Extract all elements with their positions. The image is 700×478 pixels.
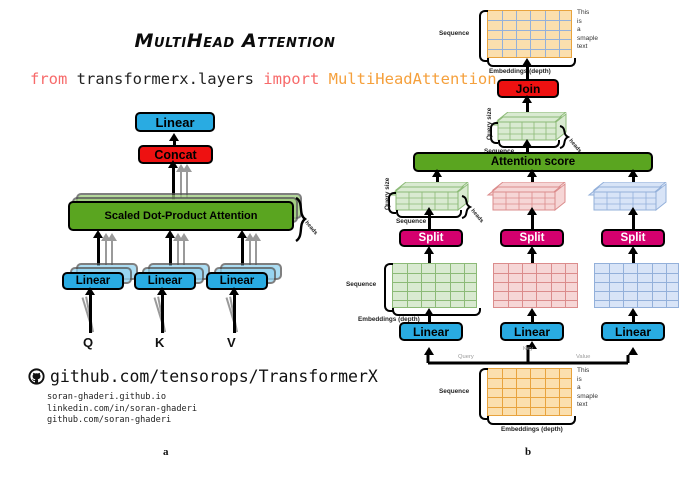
arrows-linear-k-to-attention bbox=[160, 233, 190, 265]
arrowhead-qproj-to-split bbox=[424, 246, 434, 254]
arrows-q-input bbox=[78, 290, 118, 340]
arrows-v-input bbox=[222, 290, 262, 340]
word-row-2: is bbox=[577, 18, 598, 27]
input-embeddings-label: Embeddings (depth) bbox=[501, 426, 563, 433]
input-word-row-1: This bbox=[577, 367, 598, 376]
arrowhead-lineark-to-proj bbox=[527, 308, 537, 316]
code-keyword-from: from bbox=[30, 70, 67, 88]
input-embeddings-brace bbox=[487, 416, 576, 425]
code-module: transformerx.layers bbox=[67, 70, 263, 88]
arrows-linear-q-to-attention bbox=[88, 233, 118, 265]
split-q-sequence-label: Sequence bbox=[396, 218, 426, 225]
arrowhead-splitk-to-matrix bbox=[527, 207, 537, 215]
branch-label-value: Value bbox=[576, 354, 590, 360]
arrowhead-vmatrix-to-score bbox=[628, 169, 638, 177]
word-row-1: This bbox=[577, 9, 598, 18]
personal-links: soran-ghaderi.github.io linkedin.com/in/… bbox=[47, 392, 197, 427]
split-matrix-query: Query size Sequence heads bbox=[388, 182, 478, 227]
diagram-a: Linear Concat Scaled Dot-Product Attenti… bbox=[0, 100, 370, 360]
output-sequence-label: Sequence bbox=[439, 30, 469, 37]
input-sequence-label: Sequence bbox=[439, 388, 469, 395]
input-matrix-grid bbox=[487, 368, 572, 416]
input-label-q: Q bbox=[83, 335, 93, 350]
input-matrix-words: This is a smaple text bbox=[577, 367, 598, 410]
input-label-v: V bbox=[227, 335, 236, 350]
arrow-splitk-to-matrix bbox=[531, 214, 534, 230]
projection-matrix-query-grid bbox=[392, 263, 477, 308]
arrow-splitq-to-matrix bbox=[428, 214, 431, 230]
arrowhead-concat-to-linear bbox=[169, 133, 179, 141]
link-website[interactable]: soran-ghaderi.github.io bbox=[47, 392, 197, 404]
split-matrix-value bbox=[586, 182, 676, 227]
scaled-dot-product-attention-box[interactable]: Scaled Dot-Product Attention bbox=[68, 201, 294, 231]
proj-embeddings-brace bbox=[392, 308, 481, 316]
link-linkedin[interactable]: linkedin.com/in/soran-ghaderi bbox=[47, 404, 197, 416]
proj-sequence-label: Sequence bbox=[346, 281, 376, 288]
output-embeddings-label: Embeddings (depth) bbox=[489, 68, 551, 75]
input-word-row-3: a bbox=[577, 384, 598, 393]
split-query-box[interactable]: Split bbox=[399, 229, 463, 247]
arrowhead-kproj-to-split bbox=[527, 246, 537, 254]
arrow-splitv-to-matrix bbox=[632, 214, 635, 230]
caption-b: b bbox=[525, 446, 531, 458]
input-word-row-4: smaple bbox=[577, 393, 598, 402]
caption-a: a bbox=[163, 446, 169, 458]
heads-brace-a bbox=[292, 196, 318, 244]
link-github[interactable]: github.com/soran-ghaderi bbox=[47, 415, 197, 427]
arrowhead-qmatrix-to-score bbox=[432, 169, 442, 177]
diagram-b: This is a smaple text Sequence Embedding… bbox=[380, 0, 700, 478]
split-key-box[interactable]: Split bbox=[500, 229, 564, 247]
split-matrix-key bbox=[485, 182, 575, 227]
arrowhead-head3-to-concat bbox=[182, 164, 192, 172]
joined-matrix: Query size Sequence heads bbox=[492, 112, 572, 157]
arrowhead-linearv-to-proj bbox=[628, 308, 638, 316]
arrows-k-input bbox=[150, 290, 190, 340]
input-sequence-brace bbox=[479, 368, 488, 420]
arrowhead-join-to-output bbox=[522, 58, 532, 66]
word-row-3: a bbox=[577, 26, 598, 35]
branch-label-query: Query bbox=[458, 354, 474, 360]
arrowhead-attentionscore-to-joined bbox=[522, 139, 532, 147]
arrowhead-joinedmatrix-to-join bbox=[522, 95, 532, 103]
split-matrix-value-stack bbox=[586, 182, 676, 222]
arrowhead-vproj-to-split bbox=[628, 246, 638, 254]
linear-query-box[interactable]: Linear bbox=[399, 322, 463, 341]
split-q-querysize-label: Query size bbox=[384, 178, 391, 210]
repo-link-text: github.com/tensorops/TransformerX bbox=[50, 367, 378, 386]
arrowhead-splitv-to-matrix bbox=[628, 207, 638, 215]
output-matrix-grid bbox=[487, 10, 572, 58]
input-word-row-2: is bbox=[577, 376, 598, 385]
arrowhead-splitq-to-matrix bbox=[424, 207, 434, 215]
linear-output-box[interactable]: Linear bbox=[135, 112, 215, 132]
split-matrix-key-stack bbox=[485, 182, 575, 222]
arrowhead-linearq-to-proj bbox=[424, 308, 434, 316]
arrowhead-kmatrix-to-score bbox=[527, 169, 537, 177]
projection-matrix-value-grid bbox=[594, 263, 679, 308]
word-row-5: text bbox=[577, 43, 598, 52]
input-word-row-5: text bbox=[577, 401, 598, 410]
projection-matrix-key-grid bbox=[493, 263, 578, 308]
joined-querysize-label: Query size bbox=[486, 108, 493, 140]
input-label-k: K bbox=[155, 335, 164, 350]
output-sequence-brace bbox=[479, 10, 488, 62]
arrowhead-branch-value bbox=[628, 347, 638, 355]
linear-value-box[interactable]: Linear bbox=[601, 322, 665, 341]
proj-sequence-brace bbox=[384, 263, 393, 312]
arrows-linear-v-to-attention bbox=[232, 233, 262, 265]
repo-link[interactable]: github.com/tensorops/TransformerX bbox=[28, 367, 378, 386]
arrowhead-branch-query bbox=[424, 347, 434, 355]
linear-key-box[interactable]: Linear bbox=[500, 322, 564, 341]
word-row-4: smaple bbox=[577, 35, 598, 44]
branch-label-key: Key bbox=[523, 346, 533, 352]
github-icon bbox=[28, 368, 45, 385]
arrowhead-attention-to-concat bbox=[168, 160, 178, 168]
code-keyword-import: import bbox=[263, 70, 319, 88]
split-value-box[interactable]: Split bbox=[601, 229, 665, 247]
output-matrix-words: This is a smaple text bbox=[577, 9, 598, 52]
